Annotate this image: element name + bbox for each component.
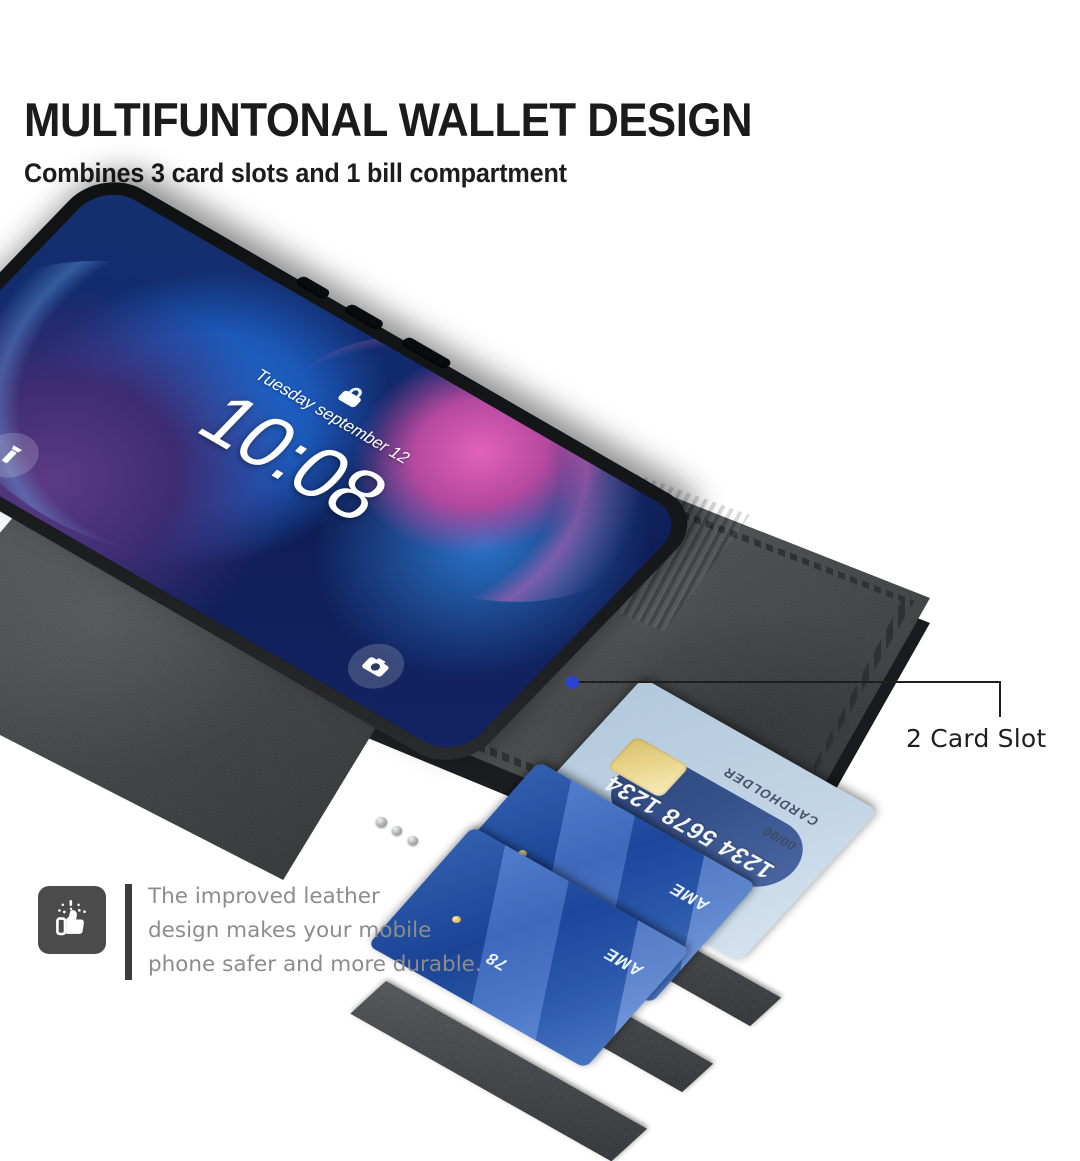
thumbs-up-sparkle-icon — [38, 886, 106, 954]
feature-description: The improved leather design makes your m… — [148, 880, 482, 982]
feature-divider — [125, 884, 132, 980]
product-marketing-image: MULTIFUNTONAL WALLET DESIGN Combines 3 c… — [0, 0, 1080, 1080]
feature-line: design makes your mobile — [148, 914, 482, 948]
feature-line: The improved leather — [148, 880, 482, 914]
callout-marker-dot — [566, 676, 579, 689]
feature-line: phone safer and more durable. — [148, 948, 482, 982]
callout-label: 2 Card Slot — [906, 724, 1046, 753]
thumbs-up-glyph — [50, 898, 94, 942]
